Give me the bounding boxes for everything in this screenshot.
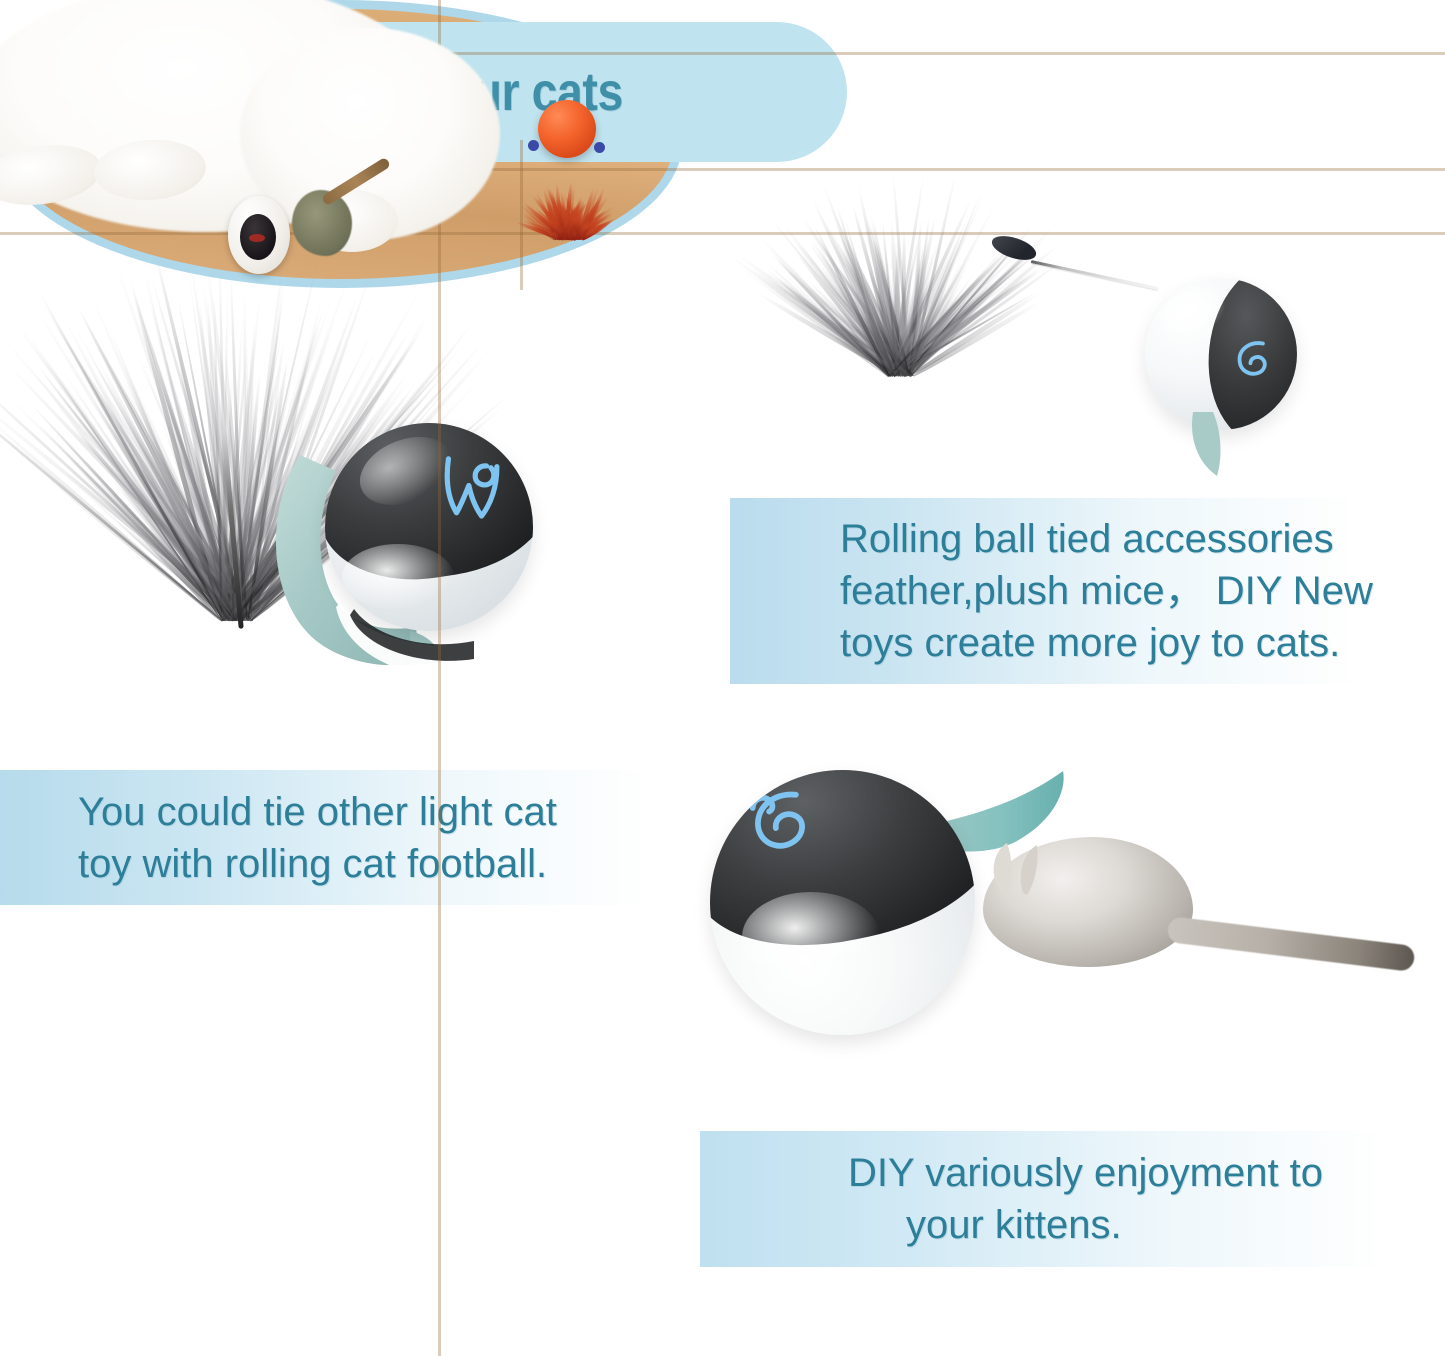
- banner-line: feather,plush mice， DIY New: [840, 565, 1445, 617]
- marketing-image-stage: DIY fun for your cats: [0, 0, 1445, 1356]
- banner-tie-other-light-toy: You could tie other light cat toy with r…: [0, 770, 650, 905]
- mouse-tail: [1166, 916, 1415, 972]
- mouse-ears: [977, 837, 1047, 901]
- banner-line: You could tie other light cat: [78, 786, 650, 838]
- feather-wand-icon: [795, 160, 1010, 390]
- product-ball: [1145, 278, 1297, 430]
- product-ball: [710, 770, 975, 1035]
- brand-swirl-icon: [743, 783, 824, 864]
- banner-line: your kittens.: [848, 1199, 1445, 1251]
- ball-tail: [1187, 412, 1277, 482]
- banner-line: toy with rolling cat football.: [78, 838, 650, 890]
- tether-string: [1031, 260, 1159, 290]
- banner-line: Rolling ball tied accessories: [840, 513, 1445, 565]
- banner-diy-enjoyment: DIY variously enjoyment to your kittens.: [700, 1131, 1445, 1267]
- ball-highlight: [742, 892, 880, 982]
- toy-ball: [228, 196, 290, 274]
- red-feather-toy: [500, 150, 630, 240]
- photo-feather-ball: [110, 245, 630, 700]
- photo-ball-mouse: [695, 755, 1415, 1045]
- banner-line: DIY variously enjoyment to: [848, 1147, 1445, 1199]
- banner-rolling-ball-accessories: Rolling ball tied accessories feather,pl…: [730, 498, 1445, 684]
- brand-swirl-icon: [431, 451, 510, 530]
- brand-swirl-icon: [1227, 334, 1280, 387]
- banner-line: toys create more joy to cats.: [840, 617, 1445, 669]
- toy-ball-face: [240, 214, 276, 260]
- photo-wand-ball: [795, 160, 1315, 460]
- ball-base-ring: [306, 597, 566, 707]
